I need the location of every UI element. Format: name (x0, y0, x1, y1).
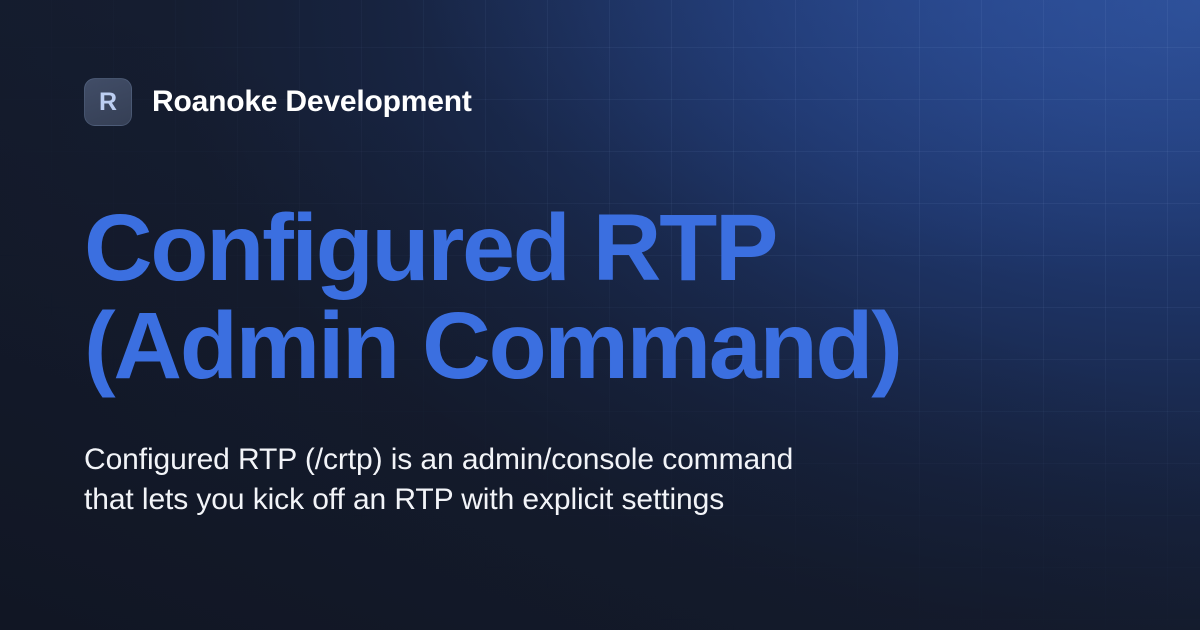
brand-name: Roanoke Development (152, 85, 472, 119)
brand-logo-badge: R (84, 78, 132, 126)
card-content: R Roanoke Development Configured RTP (Ad… (0, 0, 1200, 630)
brand-header: R Roanoke Development (84, 78, 1116, 126)
brand-logo-letter: R (99, 90, 117, 115)
page-title: Configured RTP (Admin Command) (84, 200, 964, 396)
og-card: R Roanoke Development Configured RTP (Ad… (0, 0, 1200, 630)
page-description: Configured RTP (/crtp) is an admin/conso… (84, 440, 834, 520)
